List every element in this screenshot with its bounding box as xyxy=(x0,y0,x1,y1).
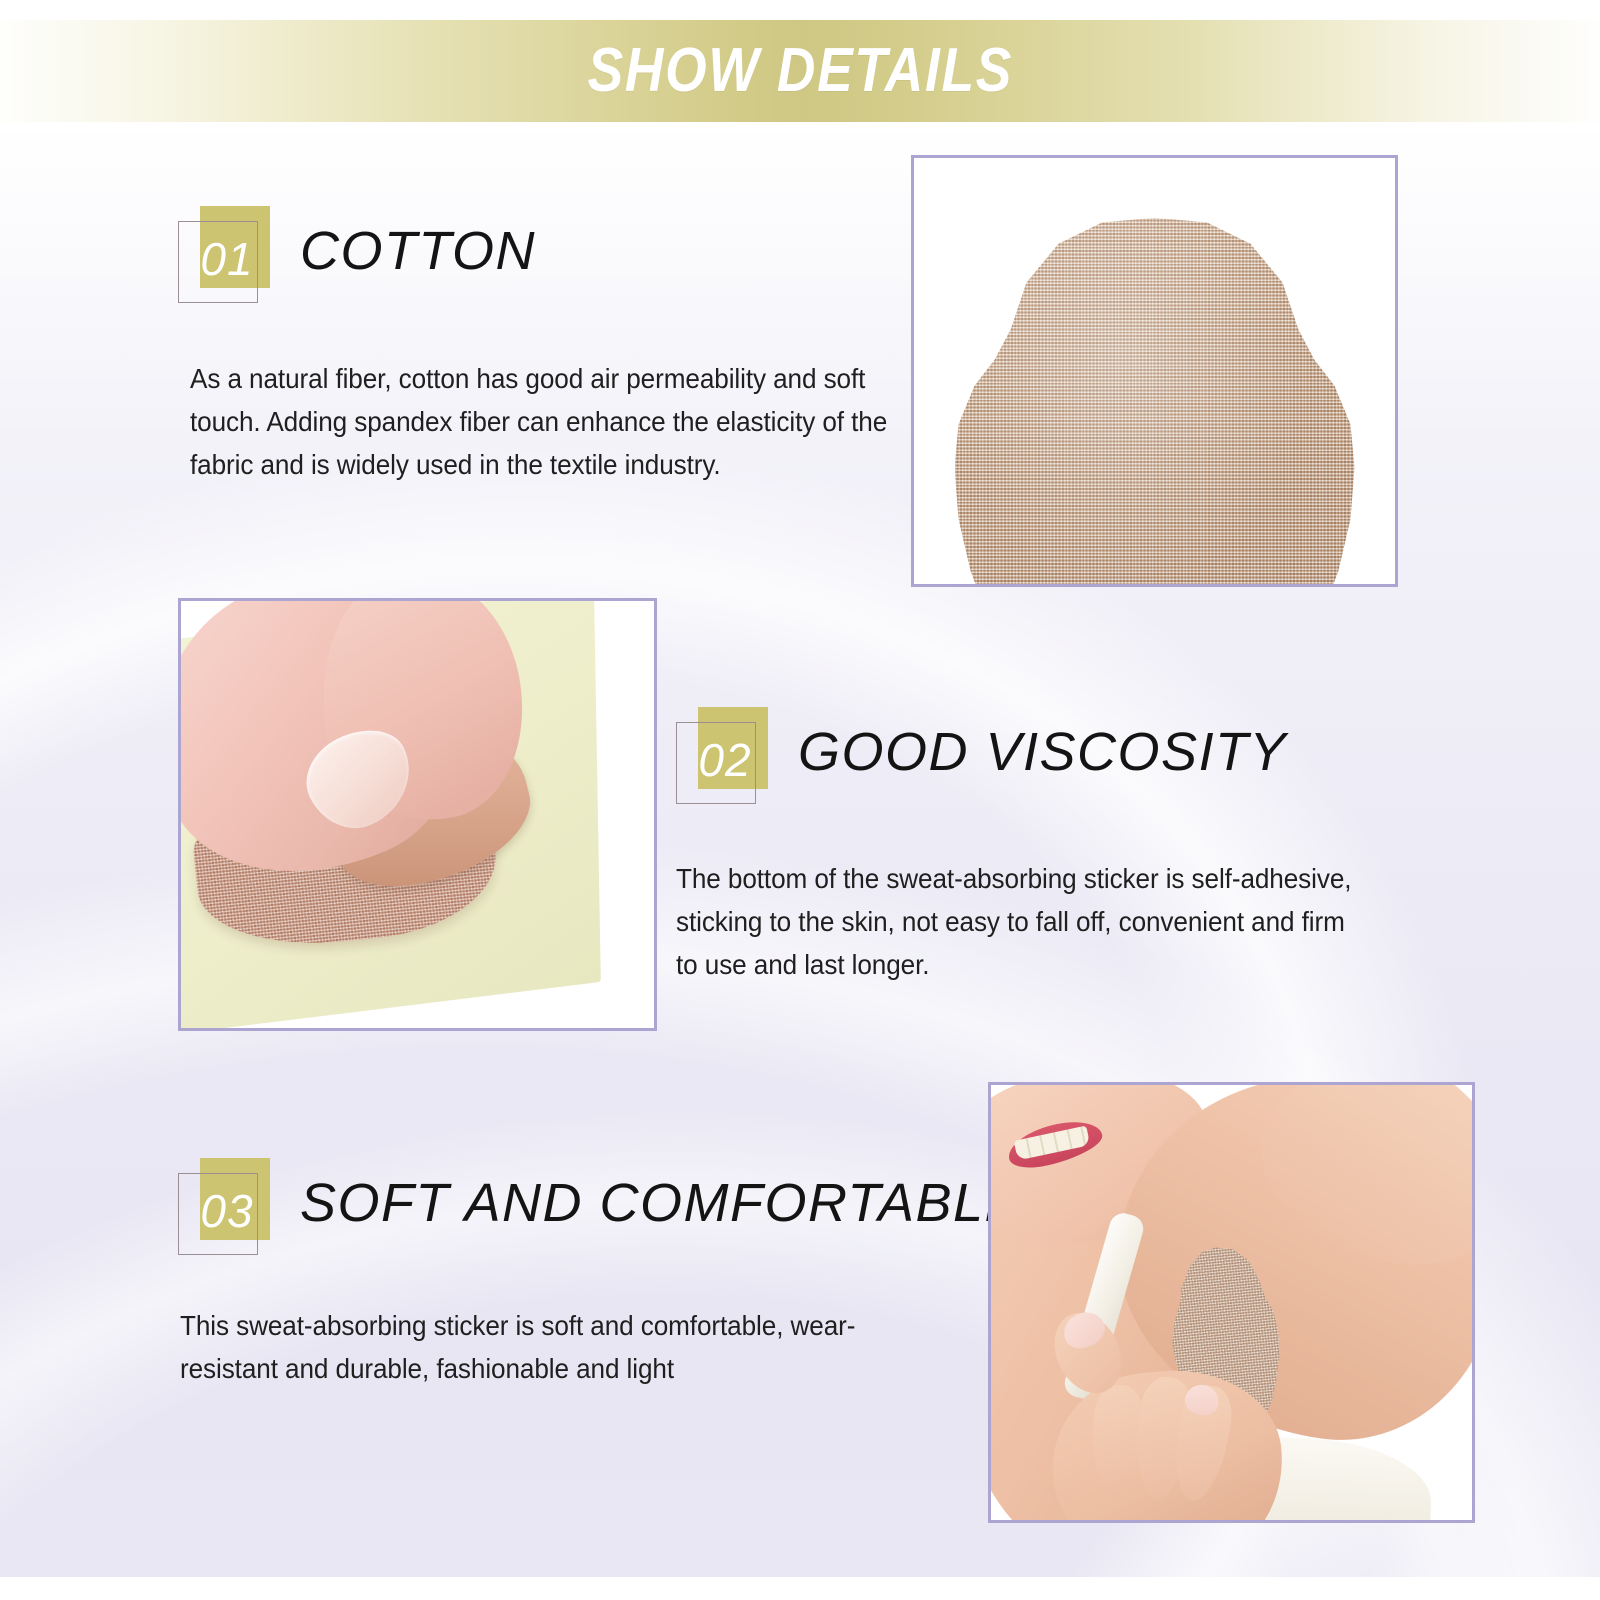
photo-inner xyxy=(181,601,654,1028)
section-soft-and-comfortable-body: This sweat-absorbing sticker is soft and… xyxy=(180,1304,874,1390)
section-good-viscosity-title: GOOD VISCOSITY xyxy=(798,725,1287,779)
section-cotton: 01 COTTON As a natural fiber, cotton has… xyxy=(178,206,938,486)
photo-inner xyxy=(991,1085,1472,1520)
cotton-fabric-patch-photo xyxy=(911,155,1398,587)
woven-cotton-patch-shape xyxy=(955,218,1355,584)
section-good-viscosity-body: The bottom of the sweat-absorbing sticke… xyxy=(676,857,1370,986)
section-cotton-title: COTTON xyxy=(300,224,536,278)
woman-applying-underarm-pad-photo xyxy=(988,1082,1475,1523)
section-soft-and-comfortable-title: SOFT AND COMFORTABLE xyxy=(300,1176,1022,1230)
show-details-banner: SHOW DETAILS xyxy=(0,20,1600,122)
section-cotton-header: 01 COTTON xyxy=(178,206,938,304)
section-cotton-body: As a natural fiber, cotton has good air … xyxy=(190,357,912,486)
section-good-viscosity: 02 GOOD VISCOSITY The bottom of the swea… xyxy=(676,707,1416,986)
background-bottom-strip xyxy=(0,1577,1600,1600)
badge-number-label: 01 xyxy=(178,206,270,304)
product-detail-page: SHOW DETAILS 01 COTTON As a natural fibe… xyxy=(0,0,1600,1600)
badge-number-label: 02 xyxy=(676,707,768,805)
section-number-badge-02: 02 xyxy=(676,707,768,805)
section-soft-and-comfortable-header: 03 SOFT AND COMFORTABLE xyxy=(178,1158,968,1256)
finger-peeling-sticker-photo xyxy=(178,598,657,1031)
badge-number-label: 03 xyxy=(178,1158,270,1256)
section-good-viscosity-header: 02 GOOD VISCOSITY xyxy=(676,707,1416,805)
section-number-badge-03: 03 xyxy=(178,1158,270,1256)
section-number-badge-01: 01 xyxy=(178,206,270,304)
photo-inner xyxy=(914,158,1395,584)
section-soft-and-comfortable: 03 SOFT AND COMFORTABLE This sweat-absor… xyxy=(178,1158,968,1390)
banner-title: SHOW DETAILS xyxy=(587,40,1012,102)
